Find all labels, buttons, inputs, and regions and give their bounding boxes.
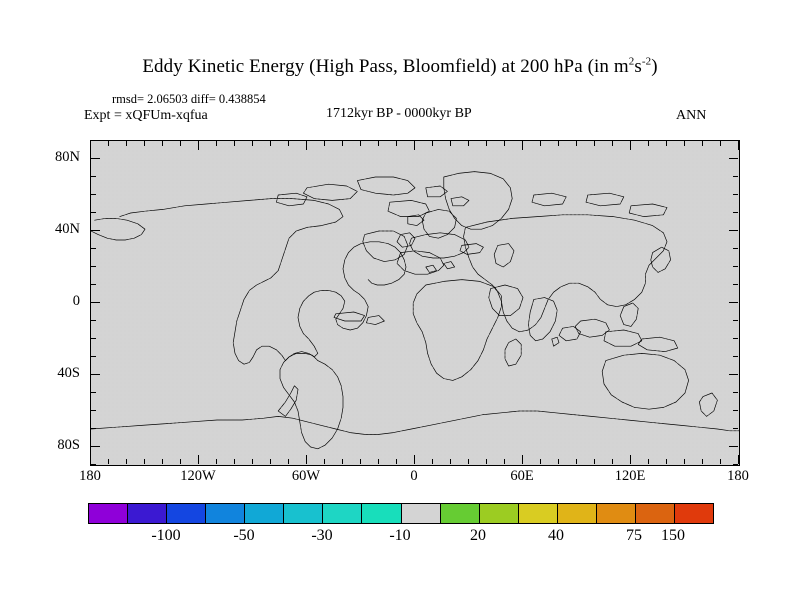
xtick-b--180: [90, 455, 91, 464]
colorbar-segment-13: [597, 504, 636, 523]
ytick-r-70: [733, 176, 738, 177]
ytick-r-40: [729, 230, 738, 231]
title-main: Eddy Kinetic Energy (High Pass, Bloomfie…: [142, 56, 628, 77]
xtick-b--90: [252, 459, 253, 464]
xtick-b--170: [108, 459, 109, 464]
ytick-r-30: [733, 248, 738, 249]
colorbar-tick-150: 150: [633, 527, 713, 545]
x-axis-label-180: 180: [693, 468, 783, 485]
ytick--70: [91, 428, 96, 429]
xtick-20: [450, 141, 451, 146]
world-map-panel: [90, 140, 740, 466]
ytick-r--40: [729, 374, 738, 375]
x-axis-label-120W: 120W: [153, 468, 243, 485]
xtick-0: [414, 141, 415, 150]
xtick-160: [702, 141, 703, 146]
y-axis-label-80S: 80S: [10, 437, 80, 454]
colorbar-segment-1: [128, 504, 167, 523]
xtick-90: [576, 141, 577, 146]
xtick-30: [468, 141, 469, 146]
xtick-50: [504, 141, 505, 146]
xtick-10: [432, 141, 433, 146]
xtick--50: [324, 141, 325, 146]
colorbar-segment-3: [206, 504, 245, 523]
xtick-b-50: [504, 459, 505, 464]
rmsd-statistics: rmsd= 2.06503 diff= 0.438854: [112, 92, 266, 107]
xtick-b-80: [558, 459, 559, 464]
colorbar-segment-9: [441, 504, 480, 523]
xtick--130: [180, 141, 181, 146]
xtick-b--160: [126, 459, 127, 464]
xtick-b--120: [198, 455, 199, 464]
colorbar-segment-14: [636, 504, 675, 523]
ytick-r--30: [733, 356, 738, 357]
xtick--90: [252, 141, 253, 146]
xtick-b-130: [648, 459, 649, 464]
xtick-b-180: [738, 455, 739, 464]
xtick-80: [558, 141, 559, 146]
xtick-b--40: [342, 459, 343, 464]
colorbar-segment-4: [245, 504, 284, 523]
colorbar-tick-20: 20: [438, 527, 518, 545]
xtick-60: [522, 141, 523, 150]
ytick-20: [91, 266, 96, 267]
xtick-b-90: [576, 459, 577, 464]
colorbar-segment-5: [284, 504, 323, 523]
ytick-40: [91, 230, 100, 231]
colorbar-segment-2: [167, 504, 206, 523]
xtick-b-10: [432, 459, 433, 464]
xtick-150: [684, 141, 685, 146]
ytick--10: [91, 320, 96, 321]
ytick--60: [91, 410, 96, 411]
xtick-b-100: [594, 459, 595, 464]
ytick-10: [91, 284, 96, 285]
ytick-r--20: [733, 338, 738, 339]
xtick-b-30: [468, 459, 469, 464]
colorbar-tick--10: -10: [360, 527, 440, 545]
xtick--140: [162, 141, 163, 146]
ytick-r-60: [733, 194, 738, 195]
xtick-b-0: [414, 455, 415, 464]
ytick--40: [91, 374, 100, 375]
colorbar-tick--50: -50: [204, 527, 284, 545]
ytick-60: [91, 194, 96, 195]
x-axis-label-60W: 60W: [261, 468, 351, 485]
colorbar-tick--100: -100: [126, 527, 206, 545]
xtick-40: [486, 141, 487, 146]
xtick--10: [396, 141, 397, 146]
colorbar: [88, 503, 714, 524]
xtick-b-150: [684, 459, 685, 464]
colorbar-segment-6: [323, 504, 362, 523]
colorbar-tick-40: 40: [516, 527, 596, 545]
experiment-label: Expt = xQFUm-xqfua: [84, 108, 208, 124]
ytick-r-50: [733, 212, 738, 213]
ytick-r--60: [733, 410, 738, 411]
ytick-0: [91, 302, 100, 303]
xtick-70: [540, 141, 541, 146]
xtick-b--30: [360, 459, 361, 464]
colorbar-tick--30: -30: [282, 527, 362, 545]
xtick--80: [270, 141, 271, 146]
colorbar-segment-11: [519, 504, 558, 523]
xtick-b-140: [666, 459, 667, 464]
xtick--100: [234, 141, 235, 146]
x-axis-label-180: 180: [45, 468, 135, 485]
xtick--40: [342, 141, 343, 146]
ytick-r--90: [733, 464, 738, 465]
ytick-r-20: [733, 266, 738, 267]
ytick-r--70: [733, 428, 738, 429]
season-label: ANN: [676, 108, 706, 124]
page-title: Eddy Kinetic Energy (High Pass, Bloomfie…: [0, 56, 800, 78]
xtick--180: [90, 141, 91, 150]
xtick-b--140: [162, 459, 163, 464]
xtick-180: [738, 141, 739, 150]
xtick-b--60: [306, 455, 307, 464]
xtick-b--130: [180, 459, 181, 464]
xtick-110: [612, 141, 613, 146]
colorbar-segment-0: [89, 504, 128, 523]
xtick--160: [126, 141, 127, 146]
xtick--30: [360, 141, 361, 146]
colorbar-segment-7: [362, 504, 401, 523]
ytick-30: [91, 248, 96, 249]
xtick-100: [594, 141, 595, 146]
xtick--110: [216, 141, 217, 146]
xtick-b--10: [396, 459, 397, 464]
ytick-r--80: [729, 446, 738, 447]
y-axis-label-40N: 40N: [10, 221, 80, 238]
xtick-b-120: [630, 455, 631, 464]
ytick-80: [91, 158, 100, 159]
xtick--60: [306, 141, 307, 150]
xtick--120: [198, 141, 199, 150]
xtick-b-70: [540, 459, 541, 464]
ytick--90: [91, 464, 96, 465]
xtick-b-110: [612, 459, 613, 464]
xtick--170: [108, 141, 109, 146]
ytick--80: [91, 446, 100, 447]
xtick-170: [720, 141, 721, 146]
xtick-b--50: [324, 459, 325, 464]
x-axis-label-0: 0: [369, 468, 459, 485]
x-axis-label-60E: 60E: [477, 468, 567, 485]
coastline-map: [91, 141, 739, 465]
ytick--20: [91, 338, 96, 339]
title-exponent-minus2: -2: [642, 56, 651, 68]
xtick-130: [648, 141, 649, 146]
xtick-b--80: [270, 459, 271, 464]
ytick-50: [91, 212, 96, 213]
xtick-b--110: [216, 459, 217, 464]
ytick--50: [91, 392, 96, 393]
y-axis-label-0: 0: [10, 293, 80, 310]
xtick-b--150: [144, 459, 145, 464]
ytick-r-80: [729, 158, 738, 159]
colorbar-segment-15: [675, 504, 713, 523]
xtick-120: [630, 141, 631, 150]
xtick-140: [666, 141, 667, 146]
ytick-70: [91, 176, 96, 177]
ytick-r-90: [733, 140, 738, 141]
xtick-b-160: [702, 459, 703, 464]
xtick-b--20: [378, 459, 379, 464]
title-tail: ): [651, 56, 657, 77]
colorbar-segment-8: [402, 504, 441, 523]
xtick-b--70: [288, 459, 289, 464]
y-axis-label-40S: 40S: [10, 365, 80, 382]
colorbar-segment-12: [558, 504, 597, 523]
xtick-b-60: [522, 455, 523, 464]
colorbar-segment-10: [480, 504, 519, 523]
ytick-r--50: [733, 392, 738, 393]
ytick-r-0: [729, 302, 738, 303]
ytick-r--10: [733, 320, 738, 321]
y-axis-label-80N: 80N: [10, 149, 80, 166]
period-label: 1712kyr BP - 0000kyr BP: [326, 106, 472, 122]
xtick-b-20: [450, 459, 451, 464]
xtick-b-170: [720, 459, 721, 464]
xtick-b--100: [234, 459, 235, 464]
ytick-90: [91, 140, 96, 141]
title-mid: s: [634, 56, 642, 77]
ytick--30: [91, 356, 96, 357]
x-axis-label-120E: 120E: [585, 468, 675, 485]
xtick--150: [144, 141, 145, 146]
xtick-b-40: [486, 459, 487, 464]
ytick-r-10: [733, 284, 738, 285]
xtick--20: [378, 141, 379, 146]
xtick--70: [288, 141, 289, 146]
